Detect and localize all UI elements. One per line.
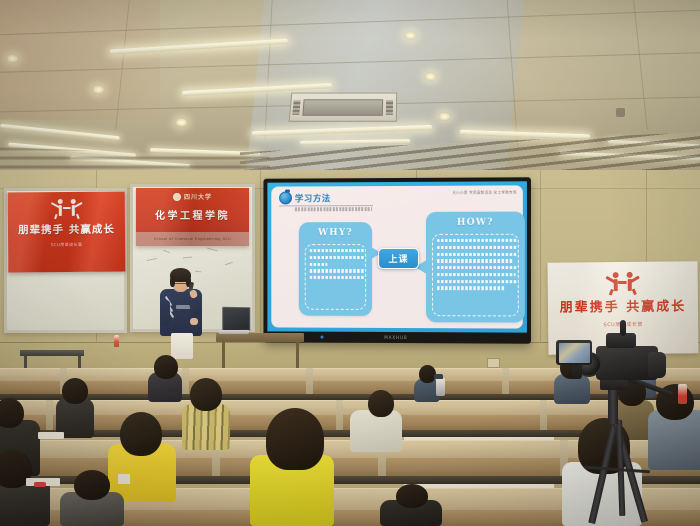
two-people-logo-icon [606,272,640,292]
slide-box-why-body [305,244,366,310]
ceiling [0,0,700,178]
wall-outlet [487,358,500,368]
university-name: 四川大学 [184,192,212,201]
laptop-screen [222,307,250,331]
slide-box-why: WHY? [299,222,372,316]
ceiling-downlight [175,118,188,127]
ceiling-downlight [438,112,451,121]
slide-box-how-body [432,234,519,317]
air-conditioner-unit [289,93,398,122]
presenter-hand [190,318,198,325]
alarm-clock-icon [279,191,292,204]
presentation-display[interactable]: 学习方法 大川小思 学风宣制活动 化工学院专场 WHY? [263,177,531,344]
ceiling-downlight [424,72,437,81]
ceiling-downlight [6,54,19,63]
podium-leg [222,342,225,368]
notebook [38,432,64,439]
desk-row-1-front [0,381,700,394]
laptop-keyboard [219,330,250,334]
podium-leg [296,342,299,368]
desk-support [182,368,189,394]
ceiling-grid-line [633,0,648,129]
two-people-logo-icon [49,199,83,219]
desk-row-2 [0,400,700,415]
ac-intake-grille [302,99,383,116]
ceiling-downlight [404,31,417,40]
presenter-trousers [171,333,193,359]
slide-corner-text: 大川小思 学风宣制活动 化工学院专场 [453,189,517,194]
thermos-bottle [436,378,445,396]
sprinkler-head [616,108,625,117]
university-seal-icon [173,193,181,201]
presenter-hair [170,276,175,287]
camera-microphone [620,320,626,336]
left-banner-main-text: 朋辈携手 共赢成长 [18,222,115,238]
thermos-lid [434,374,443,379]
desk-support [306,368,313,394]
water-bottle [114,335,119,347]
slide-panel: 学习方法 大川小思 学风宣制活动 化工学院专场 WHY? [271,185,523,328]
desk-support [46,400,53,430]
department-name-english: School of Chemical Engineering, SCU [136,232,249,246]
side-table [20,350,84,356]
camera-lcd-screen [559,343,590,363]
camera-hand-grip [648,352,666,378]
slide-header: 学习方法 [279,191,331,204]
camera-lcd-housing[interactable] [556,340,592,365]
desk-support [502,368,509,394]
slide-title: 学习方法 [295,192,331,204]
ceiling-downlight [92,85,105,94]
slide-box-how-heading: HOW? [426,218,525,228]
desk-support [336,400,343,430]
school-name-sign: 四川大学 化学工程学院 School of Chemical Engineeri… [136,188,249,246]
left-banner-sub-text: SCU朋辈成长营 [51,242,83,248]
left-red-banner: 朋辈携手 共赢成长 SCU朋辈成长营 [8,191,126,272]
ceiling-warm-reflection [0,0,160,120]
slide: 学习方法 大川小思 学风宣制活动 化工学院专场 WHY? [267,181,527,332]
pen [34,482,46,487]
tripod-column [608,388,618,424]
desk-support [540,400,547,430]
paper-cup [118,474,130,484]
lecture-hall-photo: 朋辈携手 共赢成长 SCU朋辈成长营 四川大学 化学工程学院 School of… [0,0,700,526]
presenter-left-arm [160,300,170,326]
right-banner-main-text: 朋辈携手 共赢成长 [560,295,687,315]
slide-title-subline [295,207,372,211]
podium-table [216,333,304,342]
slide-center-chip: 上课 [378,248,419,269]
ac-vent [386,100,393,115]
department-name: 化学工程学院 [155,207,230,222]
ceiling-light-tube [0,124,120,141]
drink-bottle [678,384,687,404]
slide-box-why-heading: WHY? [299,228,372,238]
ac-vent [292,100,300,115]
slide-box-how: HOW? [426,212,525,323]
